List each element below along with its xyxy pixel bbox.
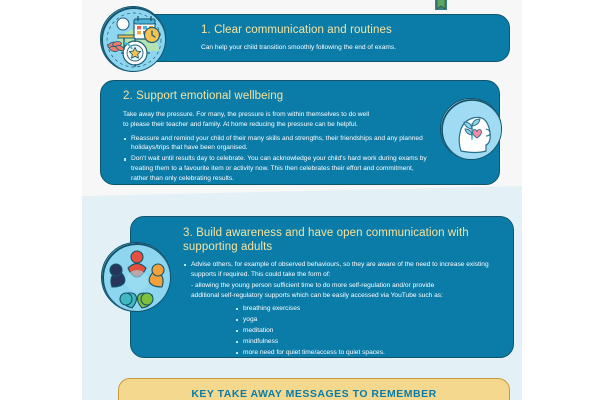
section-3-bullet-list: Advise others, for example of observed b… — [183, 260, 497, 280]
list-item: meditation — [235, 326, 497, 336]
list-item: Advise others, for example of observed b… — [183, 260, 497, 280]
list-item: Reassure and remind your child of their … — [123, 134, 427, 154]
list-item: more need for quiet time/access to quiet… — [235, 348, 497, 358]
section-2-intro-line-2: to please their teacher and family. At h… — [123, 120, 427, 130]
bookmark-icon — [434, 0, 448, 12]
section-3-sub-line-2: additional self-regulatory supports whic… — [191, 291, 497, 301]
section-3-title: 3. Build awareness and have open communi… — [183, 227, 497, 254]
key-takeaway-box: KEY TAKE AWAY MESSAGES TO REMEMBER — [118, 378, 510, 400]
section-2-title: 2. Support emotional wellbeing — [123, 90, 427, 104]
document-sheet: 1. Clear communication and routines Can … — [82, 0, 522, 400]
section-1-panel: 1. Clear communication and routines Can … — [110, 14, 510, 62]
list-item: breathing exercises — [235, 304, 497, 314]
list-item: mindfulness — [235, 337, 497, 347]
list-item: Don't wait until results day to celebrat… — [123, 154, 427, 184]
section-2-bullet-list: Reassure and remind your child of their … — [123, 134, 427, 184]
section-2-intro-line-1: Take away the pressure. For many, the pr… — [123, 110, 427, 120]
infographic-page: 1. Clear communication and routines Can … — [0, 0, 600, 400]
section-1-subtitle: Can help your child transition smoothly … — [201, 43, 495, 53]
section-3-sub-bullet-list: breathing exercises yoga meditation mind… — [183, 304, 497, 357]
list-item: yoga — [235, 315, 497, 325]
section-3-sub-line-1: - allowing the young person sufficient t… — [191, 281, 497, 291]
calendar-clock-routine-icon — [100, 6, 166, 72]
people-circle-teamwork-icon — [101, 242, 171, 312]
section-3-panel: 3. Build awareness and have open communi… — [130, 216, 514, 358]
head-with-plant-and-heart-icon — [440, 98, 502, 160]
key-takeaway-title: KEY TAKE AWAY MESSAGES TO REMEMBER — [119, 379, 509, 400]
section-1-title: 1. Clear communication and routines — [201, 24, 495, 38]
